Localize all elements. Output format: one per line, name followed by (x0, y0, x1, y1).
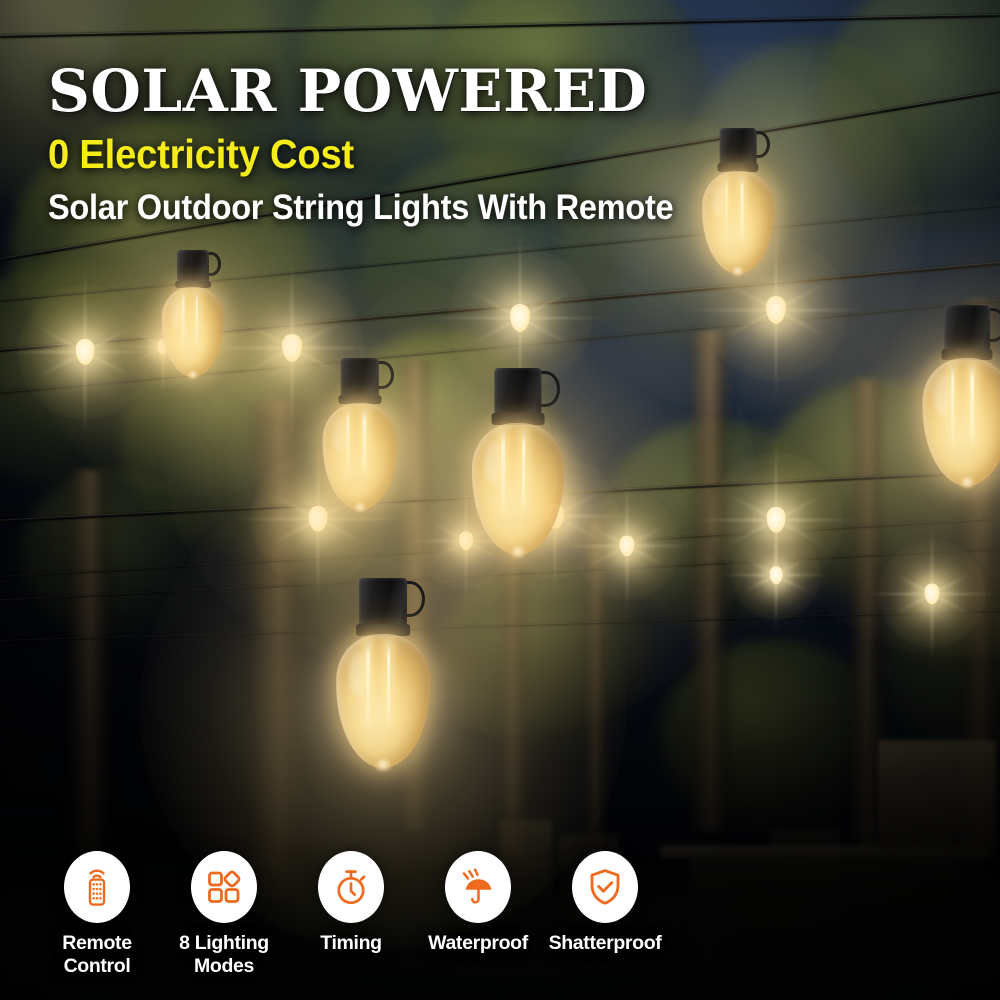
feature-label: 8 Lighting Modes (159, 932, 289, 978)
feature-badge-waterproof[interactable]: Waterproof (425, 851, 531, 955)
feature-badge-shatterproof[interactable]: Shatterproof (552, 851, 658, 955)
bulb-socket-cap (341, 358, 379, 398)
bulb-center (472, 368, 564, 557)
feature-label: Timing (295, 932, 407, 955)
feature-badge-strip: Remote Control 8 Lighting Modes Timing W… (44, 851, 658, 978)
remote-control-icon (78, 866, 116, 908)
feature-icon-circle (572, 851, 638, 923)
feature-badge-remote-control[interactable]: Remote Control (44, 851, 150, 978)
feature-icon-circle (191, 851, 257, 923)
bulb-filament (346, 409, 349, 476)
bulb-filament (522, 430, 526, 512)
bulb-socket-cap (177, 250, 209, 283)
bulb-filament (951, 365, 955, 444)
bulb-glass (323, 403, 398, 511)
bulb-tip (374, 758, 393, 771)
bulb-mid-left (323, 358, 398, 512)
shield-check-icon (586, 867, 624, 907)
bulb-filament (501, 430, 505, 512)
page-title: SOLAR POWERED (48, 62, 768, 121)
bulb-tip (509, 545, 527, 558)
bulb-filament (366, 641, 370, 724)
bulb-tip (353, 502, 368, 513)
lighting-modes-icon (205, 868, 243, 906)
bulb-upper-left (162, 250, 224, 378)
subheadline: 0 Electricity Cost (48, 133, 718, 176)
tagline: Solar Outdoor String Lights With Remote (48, 190, 718, 227)
bulb-lower-center (336, 578, 430, 770)
distant-bulb (770, 566, 783, 584)
feature-icon-circle (318, 851, 384, 923)
bulb-glass (923, 358, 1000, 486)
bulb-socket-cap (494, 368, 541, 417)
bulb-glass (472, 423, 564, 555)
feature-label: Waterproof (422, 932, 534, 955)
bulb-socket-cap (359, 578, 407, 628)
bulb-filament (970, 365, 974, 444)
umbrella-icon (458, 867, 498, 907)
bulb-socket-cap (944, 305, 990, 352)
bulb-glass (162, 287, 224, 377)
bulb-tip (958, 476, 976, 489)
bulb-filament (387, 641, 391, 724)
bulb-tip (187, 370, 199, 379)
feature-icon-circle (445, 851, 511, 923)
timer-icon (332, 867, 370, 907)
feature-badge-8-lighting-modes[interactable]: 8 Lighting Modes (171, 851, 277, 978)
bulb-tip (731, 266, 745, 276)
bulb-glass (336, 634, 430, 768)
marketing-copy: SOLAR POWERED 0 Electricity Cost Solar O… (48, 62, 768, 227)
feature-label: Remote Control (41, 932, 153, 978)
feature-icon-circle (64, 851, 130, 923)
product-hero-image: SOLAR POWERED 0 Electricity Cost Solar O… (0, 0, 1000, 1000)
bulb-filament (363, 409, 366, 476)
feature-label: Shatterproof (540, 932, 670, 955)
feature-badge-timing[interactable]: Timing (298, 851, 404, 955)
bulb-filament (182, 292, 185, 348)
bulb-right-edge (923, 305, 1000, 487)
bulb-filament (195, 292, 198, 348)
